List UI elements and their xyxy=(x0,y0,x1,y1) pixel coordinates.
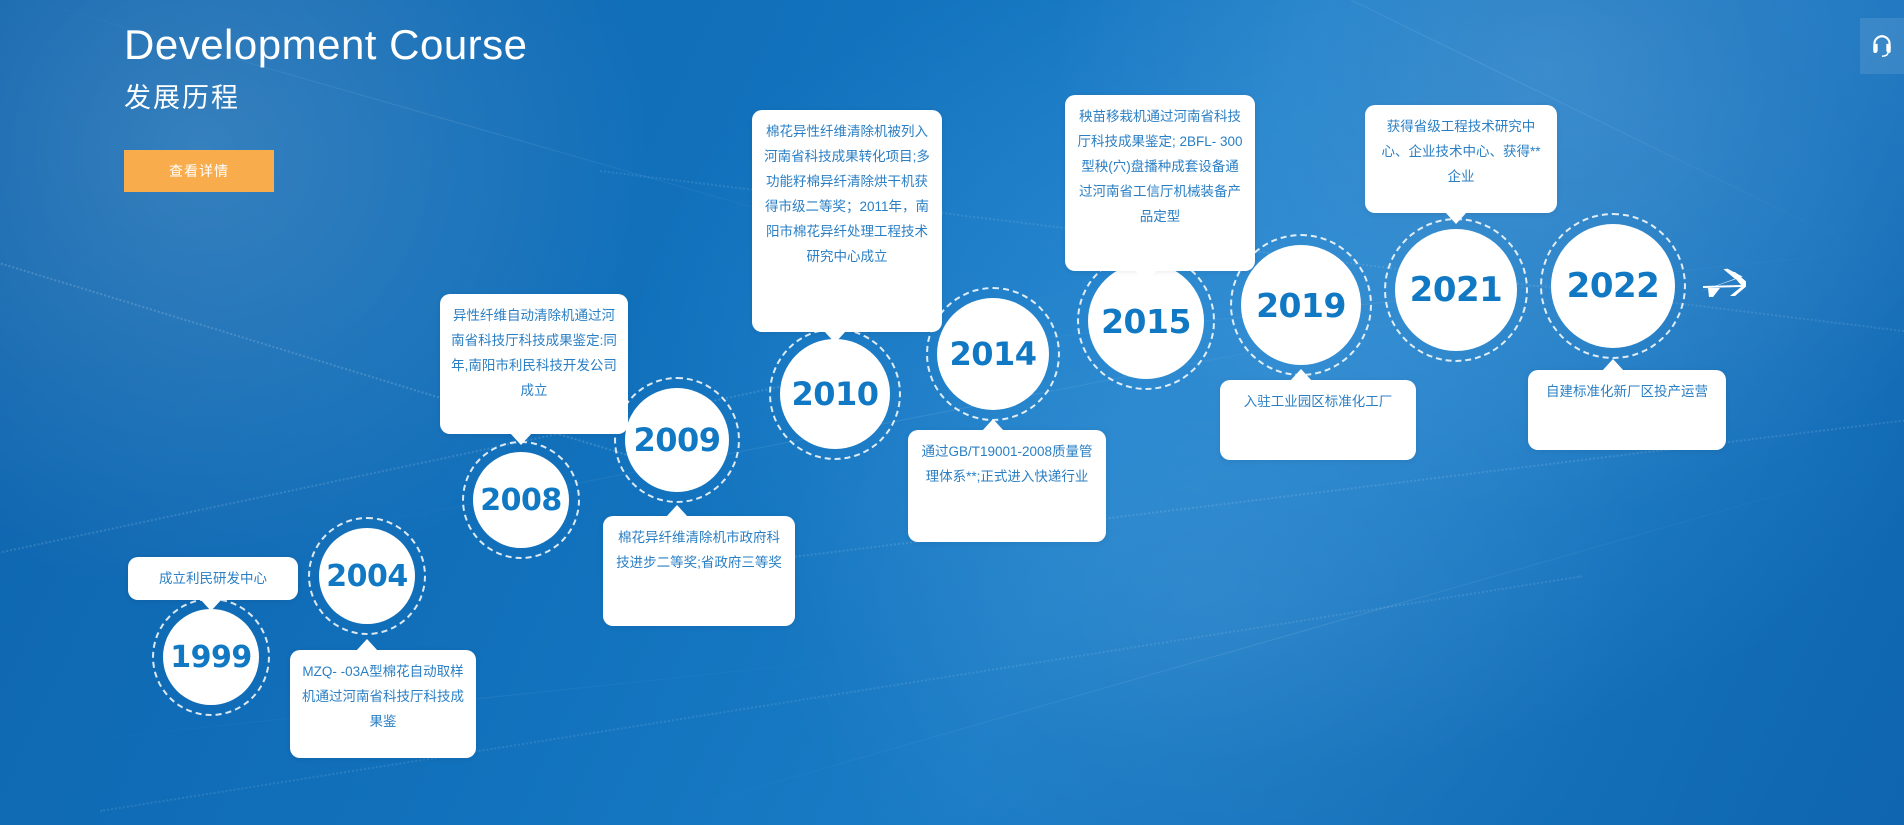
bubble-pointer xyxy=(1135,270,1157,282)
timeline-description-text: 自建标准化新厂区投产运营 xyxy=(1546,384,1708,399)
bubble-pointer xyxy=(1602,359,1624,371)
bubble-pointer xyxy=(510,433,532,445)
timeline-description-2019: 入驻工业园区标准化工厂 xyxy=(1220,380,1416,460)
timeline-year-2014[interactable]: 2014 xyxy=(937,298,1049,410)
timeline-description-2008: 异性纤维自动清除机通过河南省科技厅科技成果鉴定:同年,南阳市利民科技开发公司成立 xyxy=(440,294,628,434)
timeline-year-2021[interactable]: 2021 xyxy=(1395,229,1517,351)
page-title-cn: 发展历程 xyxy=(124,76,528,120)
timeline-year-2022[interactable]: 2022 xyxy=(1551,224,1675,348)
airplane-icon xyxy=(1700,266,1746,311)
timeline-year-2019[interactable]: 2019 xyxy=(1241,245,1361,365)
bubble-pointer xyxy=(666,505,688,517)
timeline-description-2014: 通过GB/T19001-2008质量管理体系**;正式进入快递行业 xyxy=(908,430,1106,542)
timeline-description-text: 异性纤维自动清除机通过河南省科技厅科技成果鉴定:同年,南阳市利民科技开发公司成立 xyxy=(451,308,617,398)
timeline-year-2010[interactable]: 2010 xyxy=(780,339,890,449)
page-title-en: Development Course xyxy=(124,16,528,74)
timeline-description-text: 棉花异性纤维清除机被列入河南省科技成果转化项目;多功能籽棉异纤清除烘干机获得市级… xyxy=(764,124,930,264)
page-header: Development Course 发展历程 查看详情 xyxy=(124,16,528,192)
timeline-description-2010: 棉花异性纤维清除机被列入河南省科技成果转化项目;多功能籽棉异纤清除烘干机获得市级… xyxy=(752,110,942,332)
bubble-pointer xyxy=(982,419,1004,431)
timeline-year-2008[interactable]: 2008 xyxy=(473,452,569,548)
bubble-pointer xyxy=(824,331,846,343)
bubble-pointer xyxy=(1445,212,1467,224)
footer: 咨询热线：18603777118 微信二维码 › 手机版 › xyxy=(0,655,1904,825)
timeline-description-2009: 棉花异纤维清除机市政府科技进步二等奖;省政府三等奖 xyxy=(603,516,795,626)
timeline-description-2015: 秧苗移栽机通过河南省科技厅科技成果鉴定; 2BFL- 300型秧(穴)盘播种成套… xyxy=(1065,95,1255,271)
timeline-description-text: 秧苗移栽机通过河南省科技厅科技成果鉴定; 2BFL- 300型秧(穴)盘播种成套… xyxy=(1077,109,1242,224)
bubble-pointer xyxy=(1290,369,1312,381)
timeline-description-text: 成立利民研发中心 xyxy=(159,571,267,586)
headset-icon xyxy=(1869,33,1895,59)
timeline-description-text: 获得省级工程技术研究中心、企业技术中心、获得** 企业 xyxy=(1381,119,1540,184)
bubble-pointer xyxy=(356,639,378,651)
timeline-description-2022: 自建标准化新厂区投产运营 xyxy=(1528,370,1726,450)
view-detail-button[interactable]: 查看详情 xyxy=(124,150,274,192)
customer-service-button[interactable] xyxy=(1860,18,1904,74)
timeline-description-text: 入驻工业园区标准化工厂 xyxy=(1244,394,1393,409)
timeline-description-2021: 获得省级工程技术研究中心、企业技术中心、获得** 企业 xyxy=(1365,105,1557,213)
timeline-description-text: 通过GB/T19001-2008质量管理体系**;正式进入快递行业 xyxy=(921,444,1092,484)
bubble-pointer xyxy=(200,599,222,611)
timeline-year-2009[interactable]: 2009 xyxy=(625,388,729,492)
timeline-description-1999: 成立利民研发中心 xyxy=(128,557,298,600)
timeline-description-text: 棉花异纤维清除机市政府科技进步二等奖;省政府三等奖 xyxy=(616,530,782,570)
timeline-year-2004[interactable]: 2004 xyxy=(319,528,415,624)
